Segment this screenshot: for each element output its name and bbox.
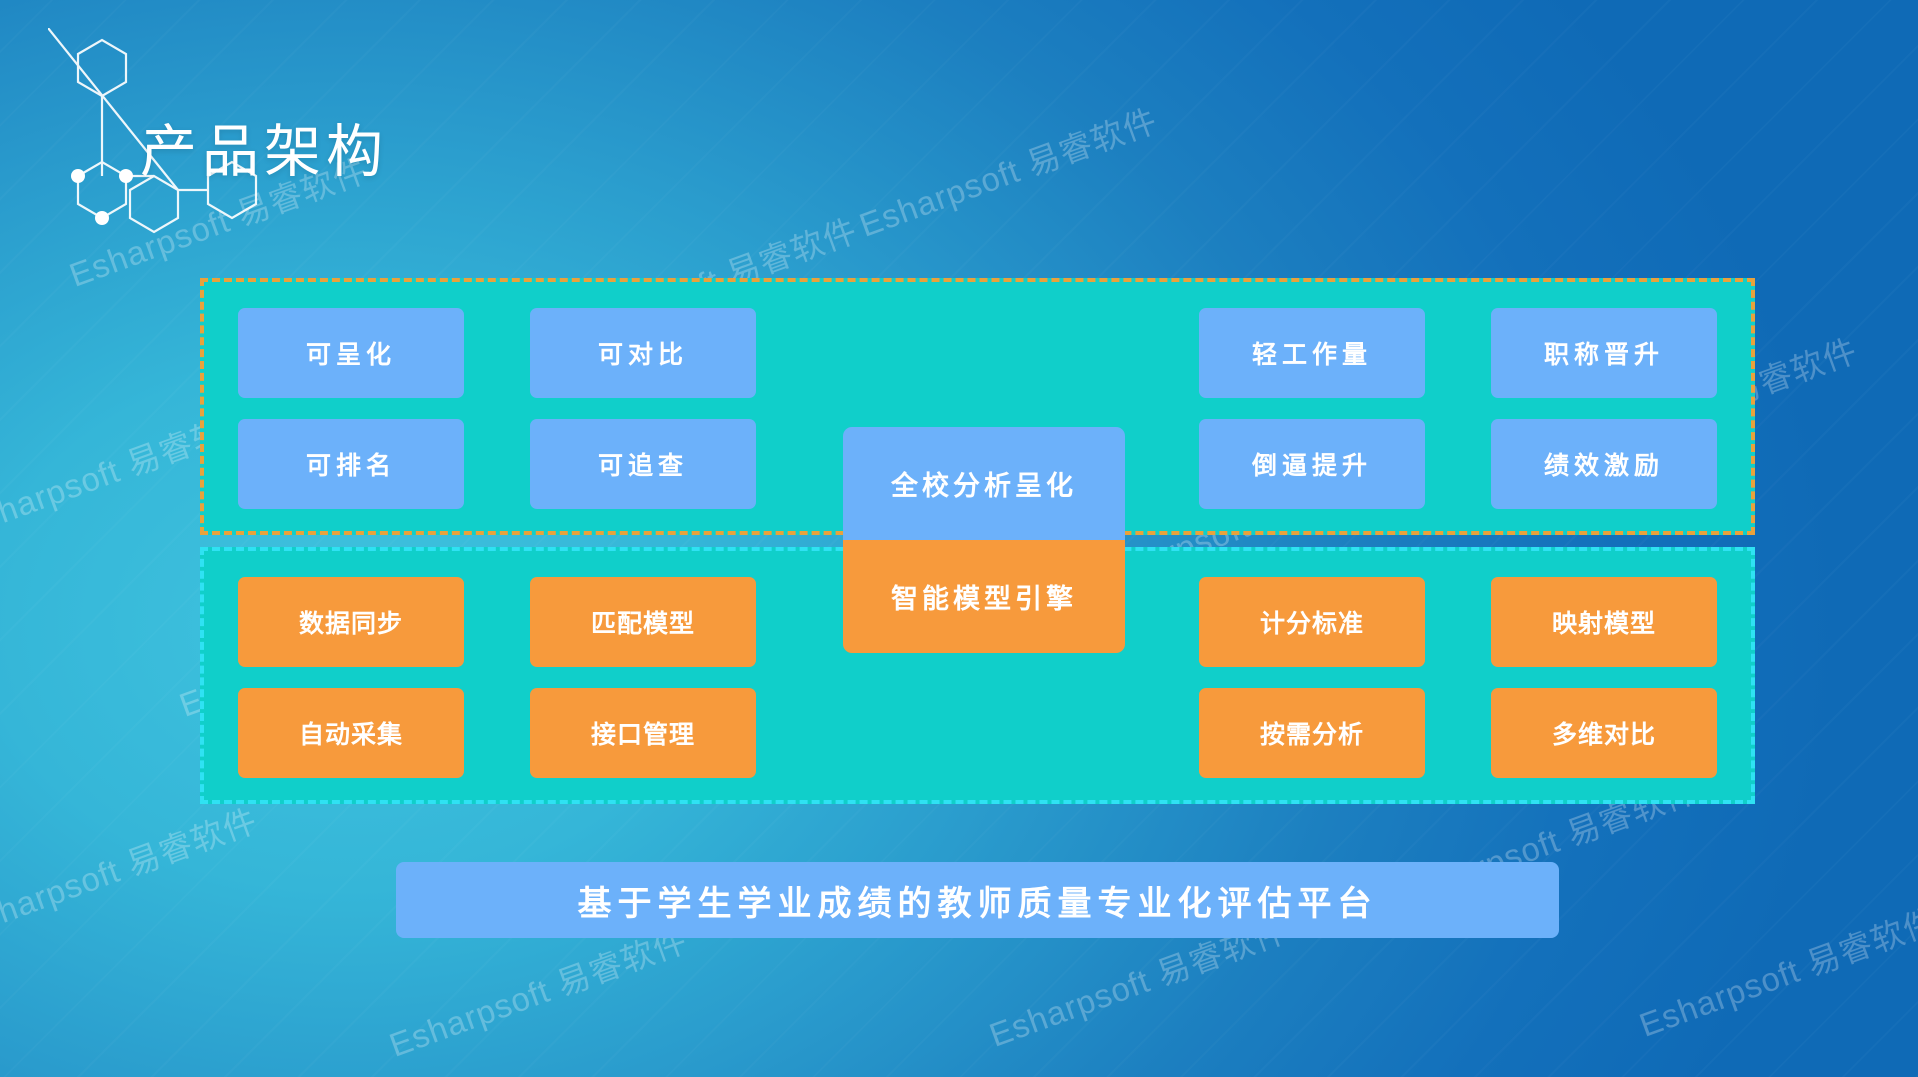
node-card[interactable]: 接口管理 bbox=[530, 688, 756, 778]
core-node-engine[interactable]: 智能模型引擎 bbox=[843, 540, 1125, 653]
bottom-band-row-2: 自动采集 接口管理 按需分析 多维对比 bbox=[238, 688, 1717, 778]
top-band-row-1-left: 可呈化 可对比 bbox=[238, 308, 756, 398]
bottom-band-row-2-left: 自动采集 接口管理 bbox=[238, 688, 756, 778]
node-card[interactable]: 数据同步 bbox=[238, 577, 464, 667]
top-band-row-2-right: 倒逼提升 绩效激励 bbox=[1199, 419, 1717, 509]
center-core-stack: 全校分析呈化 智能模型引擎 bbox=[843, 427, 1125, 653]
node-card[interactable]: 多维对比 bbox=[1491, 688, 1717, 778]
top-band-row-1-right: 轻工作量 职称晋升 bbox=[1199, 308, 1717, 398]
bottom-band-row-1-left: 数据同步 匹配模型 bbox=[238, 577, 756, 667]
node-card[interactable]: 自动采集 bbox=[238, 688, 464, 778]
node-card[interactable]: 计分标准 bbox=[1199, 577, 1425, 667]
bottom-band-row-2-right: 按需分析 多维对比 bbox=[1199, 688, 1717, 778]
top-band-row-2-left: 可排名 可追查 bbox=[238, 419, 756, 509]
node-card[interactable]: 可排名 bbox=[238, 419, 464, 509]
node-card[interactable]: 倒逼提升 bbox=[1199, 419, 1425, 509]
node-card[interactable]: 轻工作量 bbox=[1199, 308, 1425, 398]
node-card[interactable]: 按需分析 bbox=[1199, 688, 1425, 778]
watermark: Esharpsoft 易睿软件 bbox=[852, 94, 1163, 246]
node-card[interactable]: 匹配模型 bbox=[530, 577, 756, 667]
page-title: 产品架构 bbox=[140, 106, 388, 188]
node-card[interactable]: 可追查 bbox=[530, 419, 756, 509]
node-card[interactable]: 可对比 bbox=[530, 308, 756, 398]
node-card[interactable]: 职称晋升 bbox=[1491, 308, 1717, 398]
node-card[interactable]: 可呈化 bbox=[238, 308, 464, 398]
platform-banner: 基于学生学业成绩的教师质量专业化评估平台 bbox=[396, 862, 1559, 938]
bottom-band-row-1-right: 计分标准 映射模型 bbox=[1199, 577, 1717, 667]
slide-canvas: Esharpsoft 易睿软件 Esharpsoft 易睿软件 Esharpso… bbox=[0, 0, 1918, 1077]
watermark: Esharpsoft 易睿软件 bbox=[0, 794, 263, 946]
node-card[interactable]: 映射模型 bbox=[1491, 577, 1717, 667]
node-card[interactable]: 绩效激励 bbox=[1491, 419, 1717, 509]
core-node-analysis[interactable]: 全校分析呈化 bbox=[843, 427, 1125, 540]
top-band-row-1: 可呈化 可对比 轻工作量 职称晋升 bbox=[238, 308, 1717, 398]
watermark: Esharpsoft 易睿软件 bbox=[1632, 894, 1918, 1046]
